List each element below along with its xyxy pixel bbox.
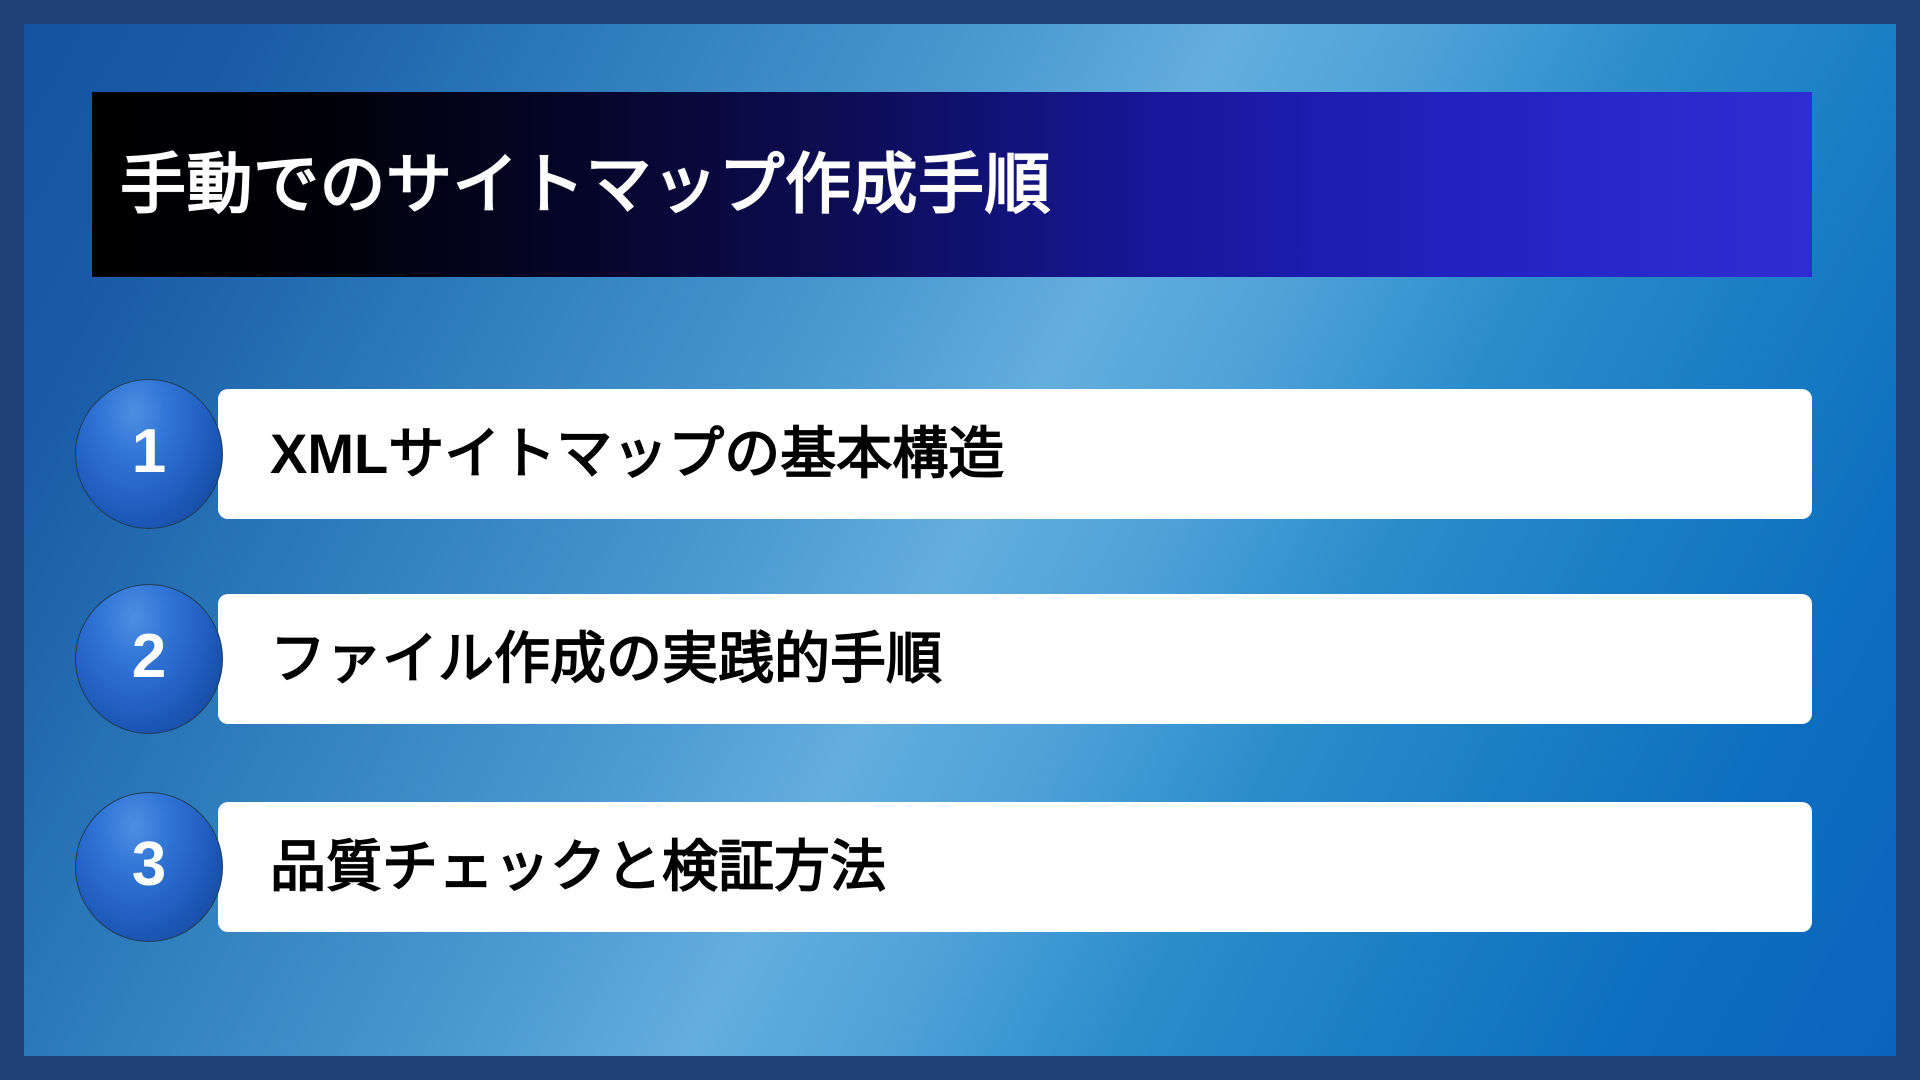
page-title: 手動でのサイトマップ作成手順 — [92, 148, 1051, 221]
step-number-label: 1 — [132, 421, 166, 483]
step-card-label: 品質チェックと検証方法 — [218, 835, 886, 899]
slide-title-bar: 手動でのサイトマップ作成手順 — [92, 92, 1812, 277]
step-number-badge-2: 2 — [75, 584, 223, 734]
step-card-label: XMLサイトマップの基本構造 — [218, 422, 1004, 486]
step-number-badge-3: 3 — [75, 792, 223, 942]
step-number-label: 2 — [132, 626, 166, 688]
step-row: 3 品質チェックと検証方法 — [24, 792, 1896, 942]
step-number-label: 3 — [132, 834, 166, 896]
step-card-3[interactable]: 品質チェックと検証方法 — [218, 802, 1812, 932]
step-row: 1 XMLサイトマップの基本構造 — [24, 379, 1896, 529]
step-card-label: ファイル作成の実践的手順 — [218, 627, 942, 691]
step-number-badge-1: 1 — [75, 379, 223, 529]
step-row: 2 ファイル作成の実践的手順 — [24, 584, 1896, 734]
step-card-1[interactable]: XMLサイトマップの基本構造 — [218, 389, 1812, 519]
slide-background-panel: 手動でのサイトマップ作成手順 1 XMLサイトマップの基本構造 2 ファイル作成… — [24, 24, 1896, 1056]
slide-canvas: 手動でのサイトマップ作成手順 1 XMLサイトマップの基本構造 2 ファイル作成… — [0, 0, 1920, 1080]
step-card-2[interactable]: ファイル作成の実践的手順 — [218, 594, 1812, 724]
